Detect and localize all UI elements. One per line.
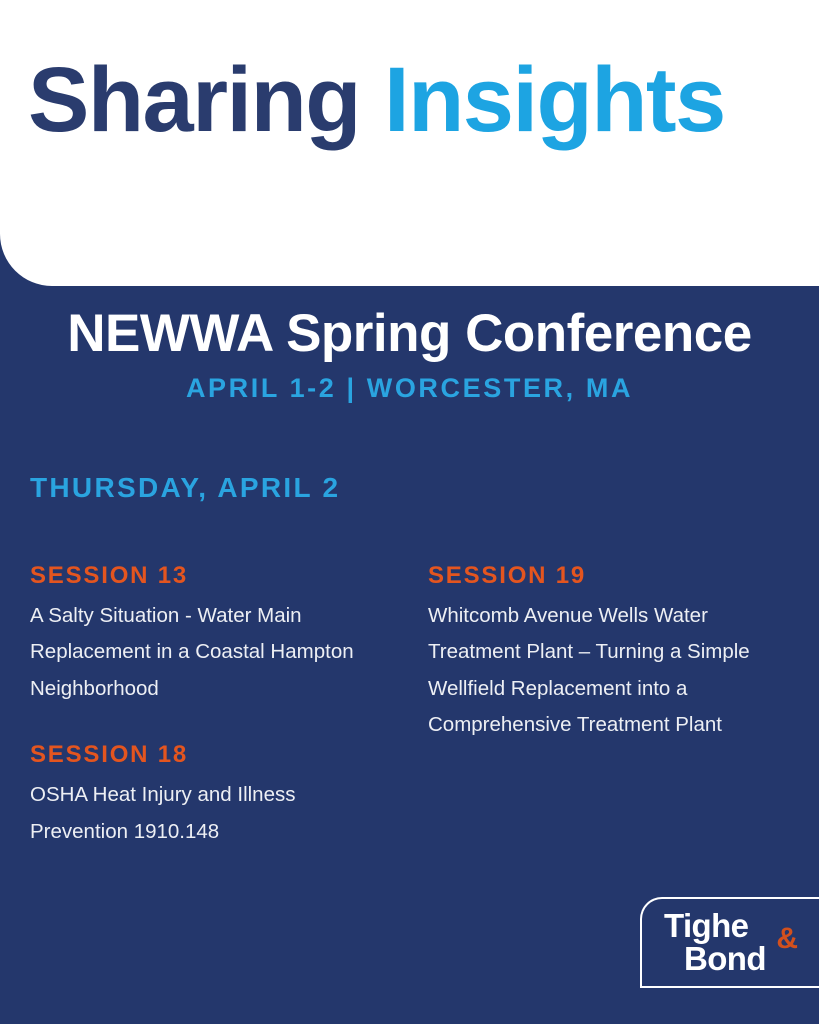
- page-title-word-insights: Insights: [384, 49, 725, 151]
- session-title: Whitcomb Avenue Wells Water Treatment Pl…: [428, 598, 797, 744]
- session-column-left: SESSION 13 A Salty Situation - Water Mai…: [0, 562, 415, 850]
- logo-wordmark: Tighe Bond &: [664, 910, 804, 980]
- session-item: SESSION 19 Whitcomb Avenue Wells Water T…: [428, 562, 797, 744]
- session-label: SESSION 13: [30, 562, 391, 590]
- session-title: OSHA Heat Injury and Illness Prevention …: [30, 777, 391, 850]
- poster-canvas: Sharing Insights NEWWA Spring Conference…: [0, 0, 819, 1024]
- header-panel: Sharing Insights: [0, 0, 819, 286]
- ampersand-icon: &: [776, 924, 798, 954]
- session-label: SESSION 18: [30, 741, 391, 769]
- day-heading: THURSDAY, APRIL 2: [30, 472, 340, 504]
- tighe-and-bond-logo: Tighe Bond &: [640, 897, 819, 988]
- session-columns: SESSION 13 A Salty Situation - Water Mai…: [0, 562, 819, 850]
- session-column-right: SESSION 19 Whitcomb Avenue Wells Water T…: [415, 562, 819, 744]
- session-item: SESSION 18 OSHA Heat Injury and Illness …: [30, 741, 391, 850]
- page-title: Sharing Insights: [28, 52, 798, 149]
- page-title-word-sharing: Sharing: [28, 49, 360, 151]
- conference-subtitle: APRIL 1-2 | WORCESTER, MA: [0, 373, 819, 404]
- session-item: SESSION 13 A Salty Situation - Water Mai…: [30, 562, 391, 707]
- conference-title: NEWWA Spring Conference: [0, 305, 819, 363]
- session-title: A Salty Situation - Water Main Replaceme…: [30, 598, 391, 707]
- session-label: SESSION 19: [428, 562, 797, 590]
- conference-block: NEWWA Spring Conference APRIL 1-2 | WORC…: [0, 305, 819, 404]
